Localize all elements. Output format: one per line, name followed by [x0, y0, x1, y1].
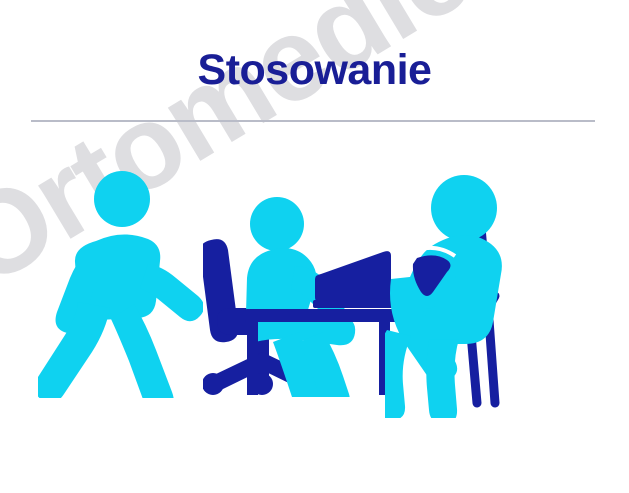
desk-top — [245, 309, 397, 322]
walker-head — [94, 171, 150, 227]
person-with-crutches-figure — [385, 168, 525, 418]
desk-leg-left — [247, 320, 258, 395]
walker-front-leg — [111, 304, 174, 398]
crutch-person-body — [385, 175, 502, 418]
chair-castor-left — [203, 373, 224, 395]
presentation-slide: Ortomedico.pl Stosowanie — [0, 0, 629, 493]
laptop-screen — [315, 251, 391, 303]
crutch-back-leg — [385, 330, 411, 418]
crutch-front-leg — [426, 339, 459, 418]
crutch-head — [431, 175, 497, 241]
person-at-desk-figure — [203, 192, 398, 397]
slide-title: Stosowanie — [0, 44, 629, 96]
title-divider-rule — [31, 120, 595, 122]
seated-head — [250, 197, 304, 251]
walking-person-figure — [38, 168, 203, 398]
